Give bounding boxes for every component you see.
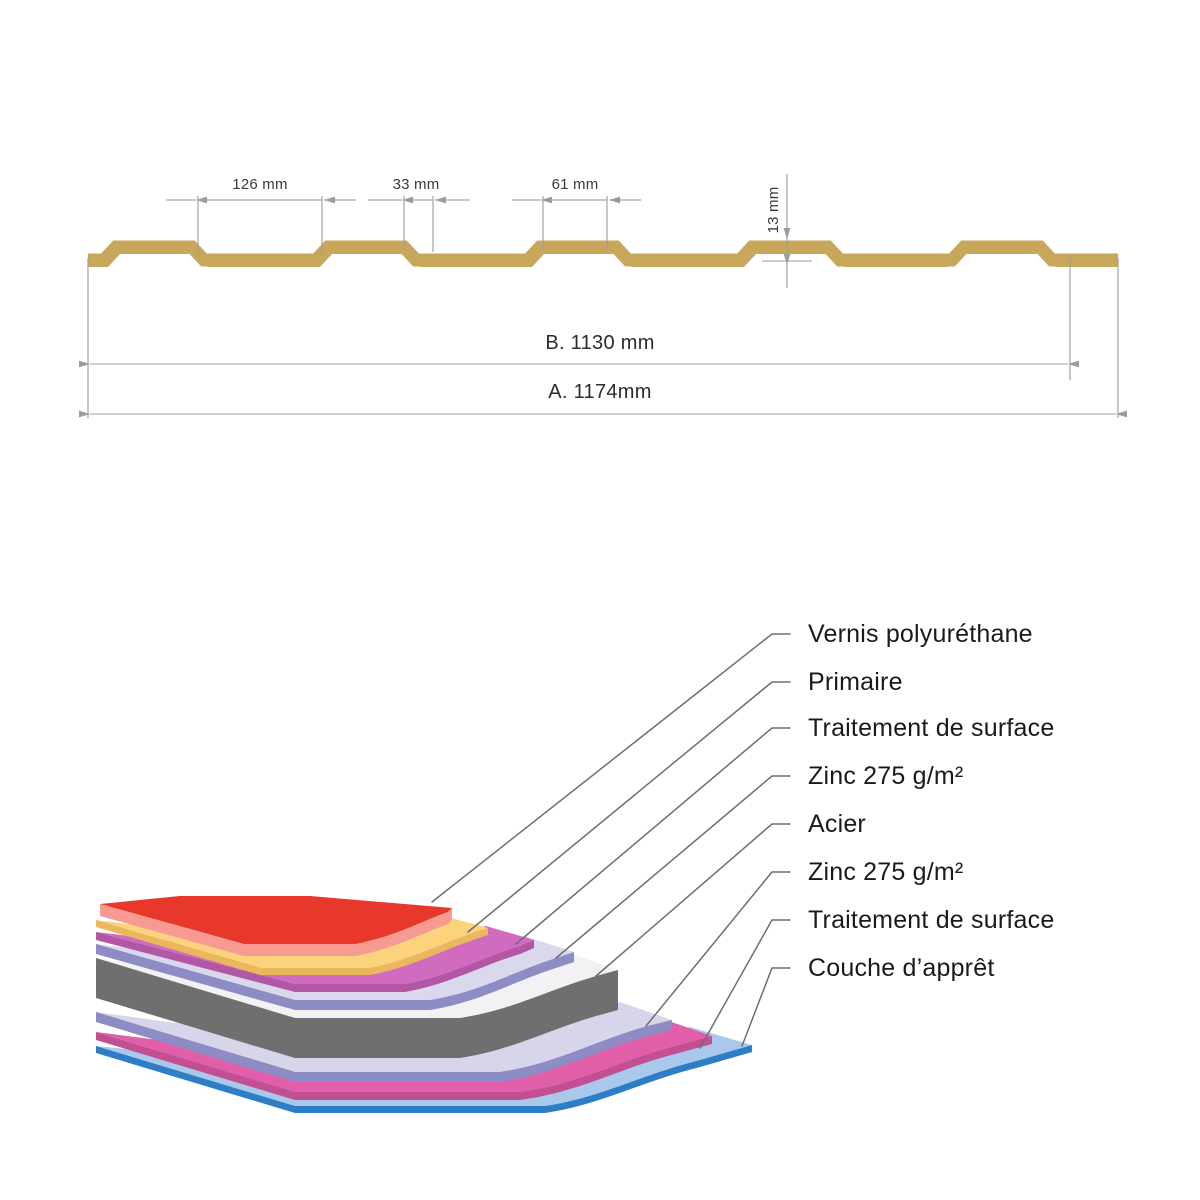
dimension-B-label: B. 1130 mm: [545, 332, 654, 354]
dimension-13mm: 13 mm: [762, 174, 812, 288]
layer-label-primaire: Primaire: [808, 668, 903, 696]
layer-label-traitement-haut: Traitement de surface: [808, 714, 1054, 742]
leader-line-zinc-haut: [556, 776, 790, 958]
dimension-33mm-label: 33 mm: [393, 176, 440, 193]
layer-labels: Vernis polyuréthane Primaire Traitement …: [808, 620, 1054, 982]
corrugated-sheet: [88, 241, 1118, 267]
leader-line-primaire: [468, 682, 790, 932]
dimension-61mm-label: 61 mm: [552, 176, 599, 193]
sheet-profile-stroke: [88, 247, 1118, 260]
layer-label-zinc-haut: Zinc 275 g/m²: [808, 762, 963, 790]
dimension-61mm: 61 mm: [512, 176, 641, 200]
layer-label-zinc-bas: Zinc 275 g/m²: [808, 858, 963, 886]
dimension-33mm: 33 mm: [368, 176, 470, 200]
leader-line-traitement-haut: [516, 728, 790, 944]
layer-label-traitement-bas: Traitement de surface: [808, 906, 1054, 934]
dimension-B-overall: B. 1130 mm: [90, 332, 1068, 364]
dimension-A-label: A. 1174mm: [548, 381, 651, 403]
leader-line-zinc-bas: [646, 872, 790, 1026]
leader-line-couche-apprêt: [742, 968, 790, 1046]
layer-label-acier: Acier: [808, 810, 866, 838]
dimension-A-overall: A. 1174mm: [90, 381, 1116, 414]
dimension-126mm-label: 126 mm: [232, 176, 287, 193]
leader-line-vernis: [432, 634, 790, 902]
diagram-root: 126 mm 33 mm 61 mm 1: [0, 0, 1200, 1200]
technical-diagram-canvas: 126 mm 33 mm 61 mm 1: [0, 0, 1200, 1200]
dimension-126mm: 126 mm: [166, 176, 356, 200]
layer-label-couche-apprêt: Couche d’apprêt: [808, 954, 994, 982]
layer-label-vernis: Vernis polyuréthane: [808, 620, 1033, 648]
leader-line-traitement-bas: [700, 920, 790, 1048]
profile-section: 126 mm 33 mm 61 mm 1: [88, 174, 1118, 418]
layer-stack-section: Vernis polyuréthane Primaire Traitement …: [96, 620, 1054, 1113]
dimension-13mm-label: 13 mm: [765, 187, 782, 234]
